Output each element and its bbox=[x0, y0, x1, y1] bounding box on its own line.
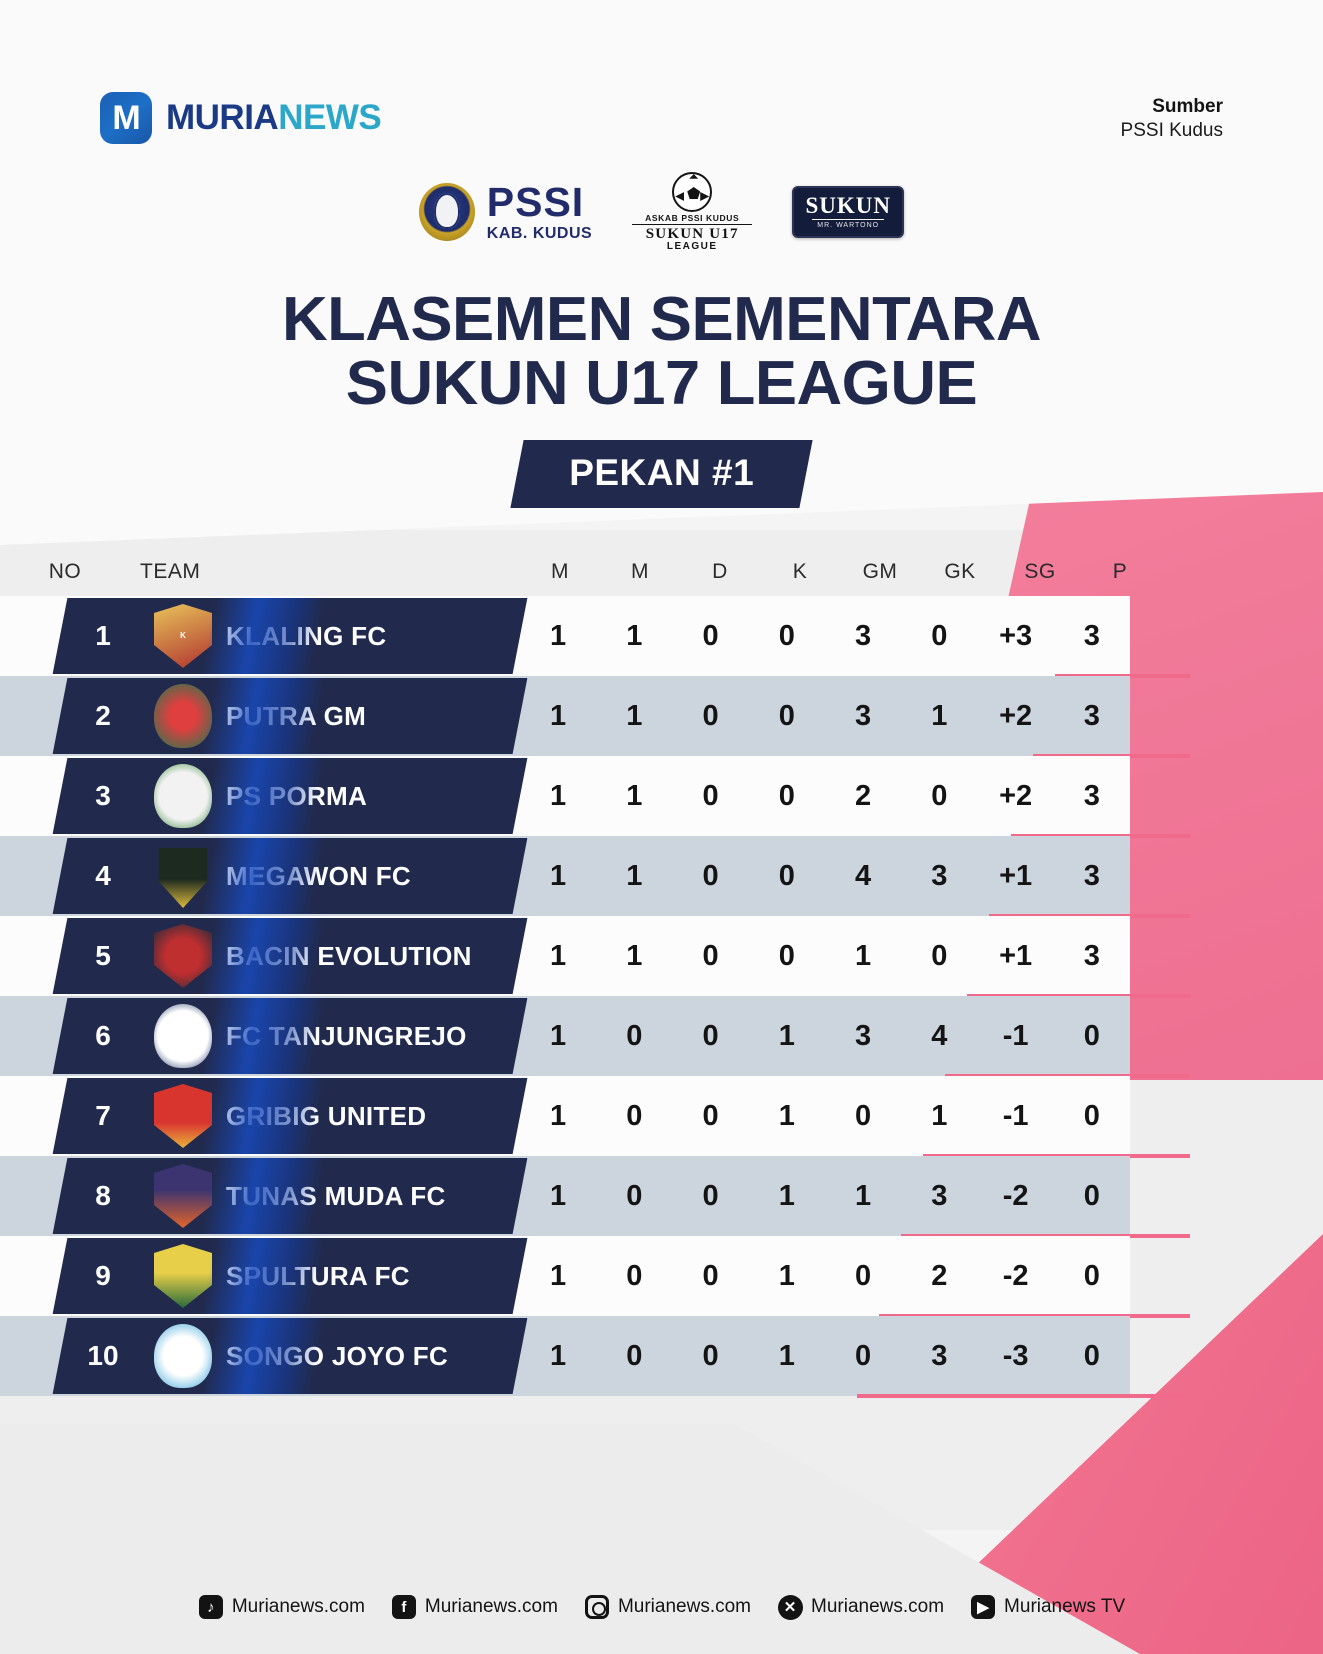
title-block: KLASEMEN SEMENTARA SUKUN U17 LEAGUE PEKA… bbox=[0, 288, 1323, 508]
table-row: 110010+135BACIN EVOLUTION bbox=[0, 916, 1323, 996]
pssi-logo: PSSI KAB. KUDUS bbox=[419, 182, 592, 242]
cell-gm: 0 bbox=[825, 1340, 901, 1373]
cell-gm: 2 bbox=[825, 780, 901, 813]
cell-l: 1 bbox=[749, 1100, 825, 1133]
cell-w: 0 bbox=[596, 1100, 672, 1133]
cell-w: 1 bbox=[596, 860, 672, 893]
column-header-sg: SG bbox=[1000, 560, 1080, 584]
social-link[interactable]: fMurianews.com bbox=[391, 1594, 558, 1620]
cell-m: 1 bbox=[520, 780, 596, 813]
cell-sg: +2 bbox=[978, 780, 1054, 813]
social-label: Murianews.com bbox=[811, 1596, 944, 1618]
cell-d: 0 bbox=[673, 1260, 749, 1293]
cell-rank: 5 bbox=[60, 940, 146, 972]
cell-p: 3 bbox=[1054, 780, 1130, 813]
murianews-wordmark: MURIANEWS bbox=[166, 98, 381, 138]
cell-p: 0 bbox=[1054, 1100, 1130, 1133]
cell-d: 0 bbox=[673, 1340, 749, 1373]
cell-w: 0 bbox=[596, 1260, 672, 1293]
brand-name-primary: MURIA bbox=[166, 98, 278, 137]
cell-d: 0 bbox=[673, 940, 749, 973]
cell-sg: +3 bbox=[978, 620, 1054, 653]
cell-gm: 0 bbox=[825, 1260, 901, 1293]
cell-m: 1 bbox=[520, 1260, 596, 1293]
standings-table: NO TEAM M M D K GM GK SG P 110030+331KKL… bbox=[0, 548, 1323, 1396]
cell-p: 0 bbox=[1054, 1340, 1130, 1373]
cell-sg: +1 bbox=[978, 860, 1054, 893]
column-header-gk: GK bbox=[920, 560, 1000, 584]
cell-m: 1 bbox=[520, 620, 596, 653]
social-label: Murianews TV bbox=[1004, 1596, 1125, 1618]
cell-sg: -1 bbox=[978, 1020, 1054, 1053]
cell-gk: 2 bbox=[901, 1260, 977, 1293]
cell-d: 0 bbox=[673, 620, 749, 653]
column-header-team: TEAM bbox=[130, 560, 520, 584]
pssi-sub: KAB. KUDUS bbox=[487, 226, 592, 242]
sponsor-divider bbox=[812, 219, 884, 220]
social-footer: ♪Murianews.comfMurianews.comMurianews.co… bbox=[0, 1594, 1323, 1620]
table-row: 100101-107GRIBIG UNITED bbox=[0, 1076, 1323, 1156]
team-block: 3PS PORMA bbox=[53, 758, 528, 834]
cell-m: 1 bbox=[520, 1180, 596, 1213]
team-block: 10SONGO JOYO FC bbox=[53, 1318, 528, 1394]
cell-d: 0 bbox=[673, 700, 749, 733]
cell-gk: 1 bbox=[901, 1100, 977, 1133]
cell-m: 1 bbox=[520, 1020, 596, 1053]
row-glow bbox=[201, 598, 326, 674]
cell-w: 0 bbox=[596, 1180, 672, 1213]
cell-gk: 0 bbox=[901, 780, 977, 813]
social-link[interactable]: Murianews.com bbox=[584, 1594, 751, 1620]
header-bar: M MURIANEWS Sumber PSSI Kudus bbox=[0, 0, 1323, 165]
table-body: 110030+331KKLALING FC110031+232PUTRA GM1… bbox=[0, 596, 1323, 1396]
cell-w: 1 bbox=[596, 700, 672, 733]
table-row: 100134-106FC TANJUNGREJO bbox=[0, 996, 1323, 1076]
cell-d: 0 bbox=[673, 1180, 749, 1213]
cell-rank: 9 bbox=[60, 1260, 146, 1292]
cell-l: 0 bbox=[749, 940, 825, 973]
murianews-logo[interactable]: M MURIANEWS bbox=[100, 92, 381, 144]
column-header-k: K bbox=[760, 560, 840, 584]
row-glow bbox=[201, 838, 326, 914]
week-badge: PEKAN #1 bbox=[510, 440, 812, 508]
team-block: 5BACIN EVOLUTION bbox=[53, 918, 528, 994]
team-block: 7GRIBIG UNITED bbox=[53, 1078, 528, 1154]
source-value: PSSI Kudus bbox=[1121, 119, 1223, 144]
tiktok-icon: ♪ bbox=[198, 1594, 224, 1620]
social-link[interactable]: ✕Murianews.com bbox=[777, 1594, 944, 1620]
team-block: 2PUTRA GM bbox=[53, 678, 528, 754]
murianews-mark-icon: M bbox=[100, 92, 152, 144]
cell-gm: 3 bbox=[825, 700, 901, 733]
cell-l: 1 bbox=[749, 1180, 825, 1213]
cell-gm: 4 bbox=[825, 860, 901, 893]
sukun-u17-league-logo: ASKAB PSSI KUDUS SUKUN U17 LEAGUE bbox=[632, 172, 752, 252]
cell-w: 1 bbox=[596, 620, 672, 653]
cell-gm: 1 bbox=[825, 940, 901, 973]
cell-m: 1 bbox=[520, 700, 596, 733]
cell-l: 1 bbox=[749, 1340, 825, 1373]
cell-l: 0 bbox=[749, 700, 825, 733]
cell-p: 0 bbox=[1054, 1180, 1130, 1213]
cell-l: 1 bbox=[749, 1020, 825, 1053]
row-accent-underline bbox=[857, 1394, 1190, 1398]
row-glow bbox=[201, 1238, 326, 1314]
cell-sg: +1 bbox=[978, 940, 1054, 973]
column-header-d: D bbox=[680, 560, 760, 584]
cell-gk: 0 bbox=[901, 940, 977, 973]
row-glow bbox=[201, 1318, 326, 1394]
team-block: 4MEGAWON FC bbox=[53, 838, 528, 914]
cell-gm: 1 bbox=[825, 1180, 901, 1213]
cell-l: 0 bbox=[749, 620, 825, 653]
cell-l: 1 bbox=[749, 1260, 825, 1293]
cell-rank: 3 bbox=[60, 780, 146, 812]
cell-p: 3 bbox=[1054, 700, 1130, 733]
row-glow bbox=[201, 998, 326, 1074]
cell-d: 0 bbox=[673, 1020, 749, 1053]
cell-rank: 4 bbox=[60, 860, 146, 892]
column-header-m: M bbox=[520, 560, 600, 584]
title-line-2: SUKUN U17 LEAGUE bbox=[0, 352, 1323, 416]
social-label: Murianews.com bbox=[232, 1596, 365, 1618]
cell-rank: 1 bbox=[60, 620, 146, 652]
row-glow bbox=[201, 1158, 326, 1234]
row-glow bbox=[201, 678, 326, 754]
cell-gk: 0 bbox=[901, 620, 977, 653]
cell-gm: 0 bbox=[825, 1100, 901, 1133]
team-block: 6FC TANJUNGREJO bbox=[53, 998, 528, 1074]
cell-p: 0 bbox=[1054, 1020, 1130, 1053]
cell-w: 0 bbox=[596, 1020, 672, 1053]
sponsor-name: SUKUN bbox=[805, 194, 891, 217]
sukun-sponsor-logo: SUKUN MR. WARTONO bbox=[792, 186, 904, 238]
column-header-w: M bbox=[600, 560, 680, 584]
team-block: 9SPULTURA FC bbox=[53, 1238, 528, 1314]
row-glow bbox=[201, 758, 326, 834]
x-twitter-icon: ✕ bbox=[777, 1594, 803, 1620]
cell-m: 1 bbox=[520, 860, 596, 893]
cell-d: 0 bbox=[673, 780, 749, 813]
cell-sg: +2 bbox=[978, 700, 1054, 733]
pssi-crest-icon bbox=[419, 183, 475, 241]
cell-d: 0 bbox=[673, 860, 749, 893]
cell-gk: 1 bbox=[901, 700, 977, 733]
cell-sg: -2 bbox=[978, 1180, 1054, 1213]
table-row: 100113-208TUNAS MUDA FC bbox=[0, 1156, 1323, 1236]
table-row: 110030+331KKLALING FC bbox=[0, 596, 1323, 676]
cell-p: 3 bbox=[1054, 940, 1130, 973]
league-arc-text: ASKAB PSSI KUDUS bbox=[632, 214, 752, 225]
team-block: 1KKLALING FC bbox=[53, 598, 528, 674]
pssi-name: PSSI bbox=[487, 182, 592, 223]
cell-p: 3 bbox=[1054, 860, 1130, 893]
table-row: 110020+233PS PORMA bbox=[0, 756, 1323, 836]
week-badge-label: PEKAN #1 bbox=[569, 452, 754, 494]
cell-m: 1 bbox=[520, 1100, 596, 1133]
cell-sg: -3 bbox=[978, 1340, 1054, 1373]
cell-gk: 4 bbox=[901, 1020, 977, 1053]
row-glow bbox=[201, 918, 326, 994]
cell-gk: 3 bbox=[901, 1340, 977, 1373]
row-glow bbox=[201, 1078, 326, 1154]
league-sub: LEAGUE bbox=[632, 242, 752, 252]
social-link[interactable]: ▶Murianews TV bbox=[970, 1594, 1125, 1620]
cell-rank: 8 bbox=[60, 1180, 146, 1212]
column-header-p: P bbox=[1080, 560, 1160, 584]
cell-m: 1 bbox=[520, 940, 596, 973]
cell-w: 1 bbox=[596, 780, 672, 813]
football-icon bbox=[672, 172, 712, 212]
cell-gm: 3 bbox=[825, 1020, 901, 1053]
facebook-icon: f bbox=[391, 1594, 417, 1620]
cell-rank: 10 bbox=[60, 1340, 146, 1372]
social-label: Murianews.com bbox=[425, 1596, 558, 1618]
source-label: Sumber bbox=[1121, 95, 1223, 119]
cell-rank: 2 bbox=[60, 700, 146, 732]
table-row: 100103-3010SONGO JOYO FC bbox=[0, 1316, 1323, 1396]
cell-m: 1 bbox=[520, 1340, 596, 1373]
cell-sg: -2 bbox=[978, 1260, 1054, 1293]
cell-gk: 3 bbox=[901, 1180, 977, 1213]
cell-l: 0 bbox=[749, 860, 825, 893]
cell-p: 0 bbox=[1054, 1260, 1130, 1293]
youtube-icon: ▶ bbox=[970, 1594, 996, 1620]
table-header-row: NO TEAM M M D K GM GK SG P bbox=[0, 548, 1323, 596]
cell-w: 0 bbox=[596, 1340, 672, 1373]
column-header-gm: GM bbox=[840, 560, 920, 584]
cell-rank: 6 bbox=[60, 1020, 146, 1052]
cell-p: 3 bbox=[1054, 620, 1130, 653]
source-block: Sumber PSSI Kudus bbox=[1121, 95, 1223, 143]
table-row: 110031+232PUTRA GM bbox=[0, 676, 1323, 756]
social-link[interactable]: ♪Murianews.com bbox=[198, 1594, 365, 1620]
cell-d: 0 bbox=[673, 1100, 749, 1133]
cell-rank: 7 bbox=[60, 1100, 146, 1132]
cell-sg: -1 bbox=[978, 1100, 1054, 1133]
column-header-no: NO bbox=[0, 560, 130, 584]
cell-w: 1 bbox=[596, 940, 672, 973]
table-row: 100102-209SPULTURA FC bbox=[0, 1236, 1323, 1316]
cell-gk: 3 bbox=[901, 860, 977, 893]
league-name: SUKUN U17 bbox=[632, 227, 752, 242]
instagram-icon bbox=[584, 1594, 610, 1620]
brand-name-secondary: NEWS bbox=[278, 98, 381, 137]
title-line-1: KLASEMEN SEMENTARA bbox=[0, 288, 1323, 352]
poster-root: M MURIANEWS Sumber PSSI Kudus PSSI KAB. … bbox=[0, 0, 1323, 1654]
table-row: 110043+134MEGAWON FC bbox=[0, 836, 1323, 916]
social-label: Murianews.com bbox=[618, 1596, 751, 1618]
team-block: 8TUNAS MUDA FC bbox=[53, 1158, 528, 1234]
pssi-wordmark: PSSI KAB. KUDUS bbox=[487, 182, 592, 242]
cell-l: 0 bbox=[749, 780, 825, 813]
cell-gm: 3 bbox=[825, 620, 901, 653]
organizer-logos: PSSI KAB. KUDUS ASKAB PSSI KUDUS SUKUN U… bbox=[0, 172, 1323, 252]
sponsor-sub: MR. WARTONO bbox=[817, 222, 879, 229]
